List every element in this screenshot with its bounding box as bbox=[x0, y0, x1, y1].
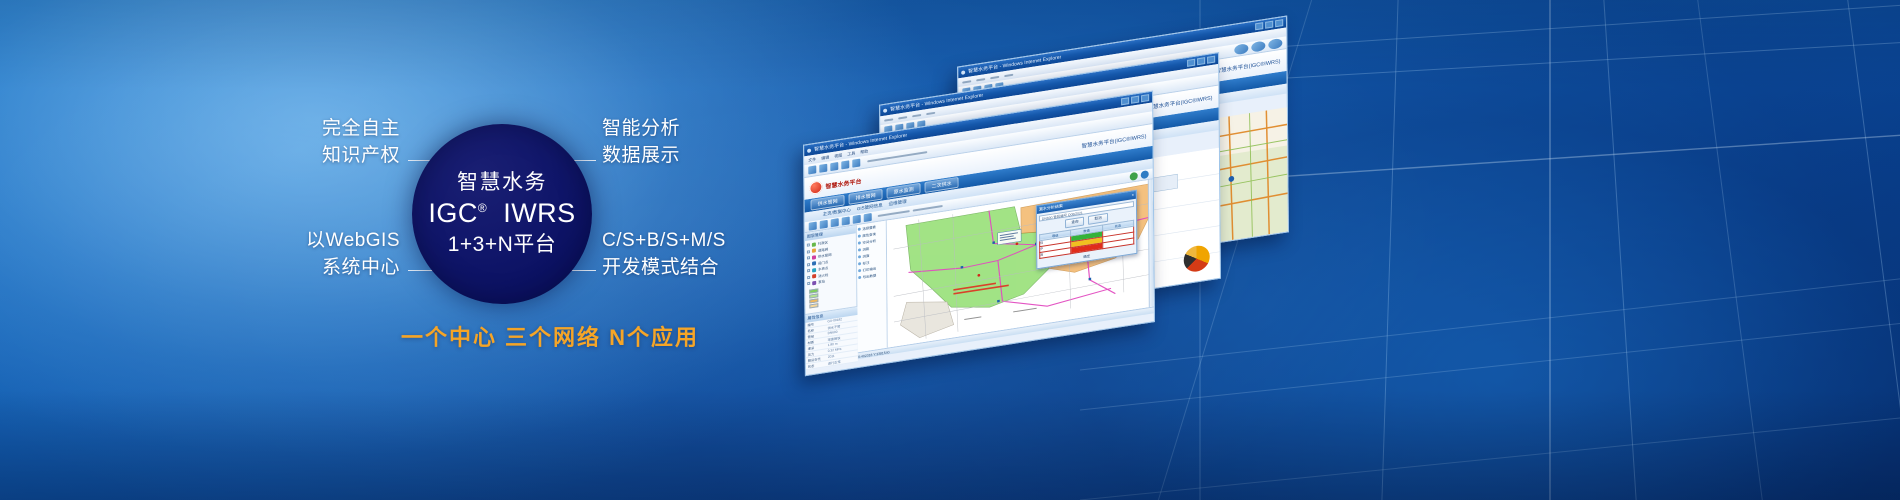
property-panel[interactable]: 属性信息 编号GX-00182 名称供水干管 管径DN600 材质球墨铸铁 埋深… bbox=[805, 305, 857, 369]
menu-item[interactable] bbox=[990, 75, 999, 78]
label-bottom-right-line2: 开发模式结合 bbox=[602, 255, 726, 282]
tool-list-panel[interactable]: 选择要素 属性查询 空间分析 测距 测面 标注 打印输出 导出数据 bbox=[857, 221, 888, 353]
minimize-icon bbox=[1255, 22, 1263, 30]
layer-panel[interactable]: 图层管理 行政区 道路网 供水管网 阀门点 水表点 消火栓 泵站 bbox=[805, 225, 858, 360]
user-avatar-icon bbox=[1234, 43, 1248, 55]
map-vertical-scrollbar[interactable] bbox=[1148, 179, 1154, 307]
maximize-icon bbox=[1131, 96, 1139, 104]
label-top-left: 完全自主 知识产权 bbox=[250, 116, 400, 170]
query-select-dropdown[interactable] bbox=[913, 205, 943, 212]
label-top-left-line2: 知识产权 bbox=[250, 143, 400, 170]
refresh-icon bbox=[841, 160, 849, 169]
menu-item[interactable] bbox=[884, 118, 893, 121]
layer-label: 泵站 bbox=[818, 278, 825, 284]
menu-item-file[interactable]: 文件 bbox=[808, 156, 816, 163]
tagline: 一个中心 三个网络 N个应用 bbox=[310, 320, 790, 352]
close-icon bbox=[1207, 56, 1215, 64]
hub-title: 智慧水务 bbox=[457, 171, 547, 194]
open-icon bbox=[809, 222, 817, 231]
main-window[interactable]: 智慧水务平台 - Windows Internet Explorer 文件 编辑… bbox=[803, 91, 1155, 377]
hub-platform: 1+3+N平台 bbox=[448, 232, 557, 257]
close-icon bbox=[1141, 94, 1149, 102]
minimize-icon bbox=[1187, 59, 1195, 67]
hub-igc: IGC bbox=[428, 198, 478, 228]
hub-iwrs: IWRS bbox=[503, 198, 576, 228]
label-bottom-right-line1: C/S+B/S+M/S bbox=[602, 228, 726, 255]
back-icon bbox=[808, 165, 816, 174]
label-top-right-line2: 数据展示 bbox=[602, 143, 680, 170]
banner-stage: 完全自主 知识产权 以WebGIS 系统中心 智能分析 数据展示 C/S+B/S… bbox=[0, 0, 1900, 500]
menu-item[interactable] bbox=[1004, 73, 1013, 76]
company-logo-icon bbox=[809, 180, 822, 195]
tool-label: 空间分析 bbox=[862, 238, 876, 245]
label-top-right: 智能分析 数据展示 bbox=[602, 116, 680, 170]
label-bottom-left-line2: 系统中心 bbox=[250, 255, 400, 282]
cancel-button[interactable]: 取消 bbox=[1088, 213, 1107, 225]
ie-icon bbox=[961, 70, 965, 75]
menu-item-edit[interactable]: 编辑 bbox=[821, 154, 829, 161]
menu-item[interactable] bbox=[898, 116, 907, 119]
help-icon bbox=[1268, 38, 1282, 50]
main-window-brand: 智慧水务平台 bbox=[825, 176, 861, 190]
minimize-icon bbox=[1121, 97, 1129, 105]
query-button[interactable]: 查询 bbox=[1065, 216, 1084, 228]
registered-mark-icon: ® bbox=[478, 201, 487, 215]
layer-select-dropdown[interactable] bbox=[878, 210, 910, 217]
identify-icon bbox=[1130, 172, 1138, 181]
close-icon[interactable]: × bbox=[1132, 191, 1134, 199]
ie-icon bbox=[883, 108, 887, 113]
hub-product-name: IGC® IWRS bbox=[428, 198, 575, 229]
layer-tree[interactable]: 行政区 道路网 供水管网 阀门点 水表点 消火栓 泵站 bbox=[805, 233, 857, 313]
menu-item[interactable] bbox=[976, 78, 985, 81]
tool-label: 测距 bbox=[862, 246, 869, 252]
ie-icon bbox=[807, 148, 811, 153]
menu-item-tools[interactable]: 工具 bbox=[847, 150, 855, 157]
maximize-icon bbox=[1197, 57, 1205, 65]
zoom-out-icon bbox=[853, 215, 861, 224]
mid-window-header-right: 智慧水务平台(IGC®IWRS) bbox=[1148, 93, 1213, 111]
forward-icon bbox=[819, 164, 827, 173]
tool-label: 选择要素 bbox=[862, 224, 876, 231]
legend-swatches bbox=[809, 283, 852, 309]
label-top-right-line1: 智能分析 bbox=[602, 116, 680, 143]
label-bottom-left-line1: 以WebGIS bbox=[250, 228, 400, 255]
screenshot-stack: 智慧水务平台 - Windows Internet Explorer 智慧水务平… bbox=[790, 45, 1430, 375]
hub-circle: 智慧水务 IGC® IWRS 1+3+N平台 bbox=[412, 124, 592, 304]
label-bottom-right: C/S+B/S+M/S 开发模式结合 bbox=[602, 228, 726, 282]
maximize-icon bbox=[1265, 21, 1273, 29]
menu-item-help[interactable]: 帮助 bbox=[860, 148, 868, 155]
menu-item-view[interactable]: 视图 bbox=[834, 152, 842, 159]
back-window-header-right: 智慧水务平台(IGC®IWRS) bbox=[1216, 57, 1281, 75]
home-icon bbox=[852, 159, 860, 168]
menu-item[interactable] bbox=[926, 111, 935, 114]
tool-label: 导出数据 bbox=[863, 272, 877, 279]
label-top-left-line1: 完全自主 bbox=[250, 116, 400, 143]
close-icon bbox=[1275, 19, 1283, 27]
menu-item[interactable] bbox=[912, 113, 921, 116]
measure-icon bbox=[1141, 170, 1149, 179]
main-window-header-right: 智慧水务平台(IGC®IWRS) bbox=[1082, 132, 1147, 150]
save-icon bbox=[820, 220, 828, 229]
stop-icon bbox=[830, 162, 838, 171]
tool-label: 标注 bbox=[863, 260, 870, 266]
print-icon bbox=[831, 218, 839, 227]
label-bottom-left: 以WebGIS 系统中心 bbox=[250, 228, 400, 282]
pan-icon bbox=[864, 213, 872, 222]
settings-icon bbox=[1251, 41, 1265, 53]
tool-label: 测面 bbox=[863, 253, 870, 259]
tool-label: 打印输出 bbox=[863, 266, 877, 273]
menu-item[interactable] bbox=[962, 80, 971, 83]
zoom-in-icon bbox=[842, 216, 850, 225]
tool-label: 属性查询 bbox=[862, 231, 876, 238]
